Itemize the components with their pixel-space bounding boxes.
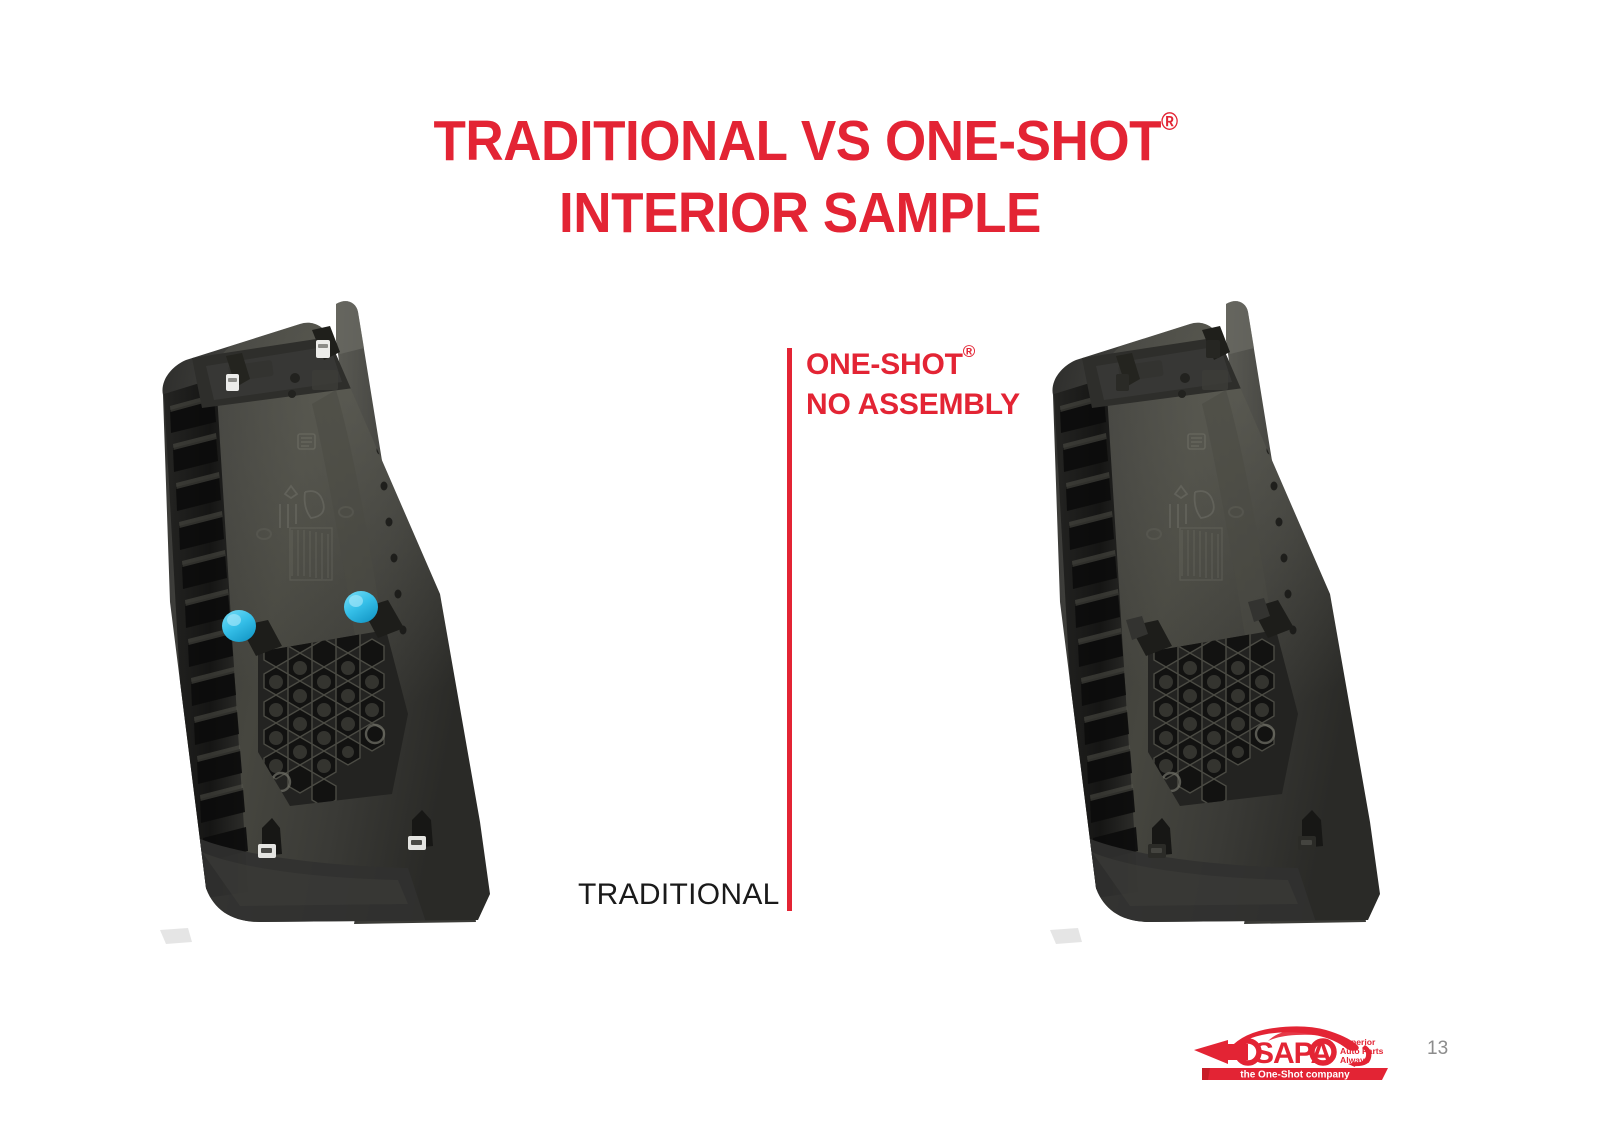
product-photo-one-shot [1030,282,1460,950]
page-title: TRADITIONAL VS ONE-SHOT® INTERIOR SAMPLE [0,112,1600,244]
product-photo-traditional [140,282,570,950]
caption-one-shot-line-1: ONE-SHOT® [806,345,1020,385]
registered-mark-icon-caption: ® [963,342,975,361]
title-line-1-text: TRADITIONAL VS ONE-SHOT [433,109,1161,173]
title-line-1: TRADITIONAL VS ONE-SHOT® [56,112,1544,172]
caption-one-shot: ONE-SHOT® NO ASSEMBLY [806,345,1020,425]
registered-mark-icon: ® [1161,108,1178,136]
vertical-divider [787,348,792,911]
page-number: 13 [1427,1038,1448,1060]
title-line-2: INTERIOR SAMPLE [56,184,1544,244]
caption-one-shot-line-2: NO ASSEMBLY [806,385,1020,425]
logo-tagline-text: the One-Shot company [1240,1070,1350,1081]
caption-traditional: TRADITIONAL [578,878,780,912]
logo-claim-line-3: Always [1340,1055,1370,1065]
osapa-logo: SAPA Superior Auto Parts Always the One-… [1192,1018,1402,1086]
caption-one-shot-text: ONE-SHOT [806,348,963,381]
slide-canvas: TRADITIONAL VS ONE-SHOT® INTERIOR SAMPLE… [0,0,1600,1131]
